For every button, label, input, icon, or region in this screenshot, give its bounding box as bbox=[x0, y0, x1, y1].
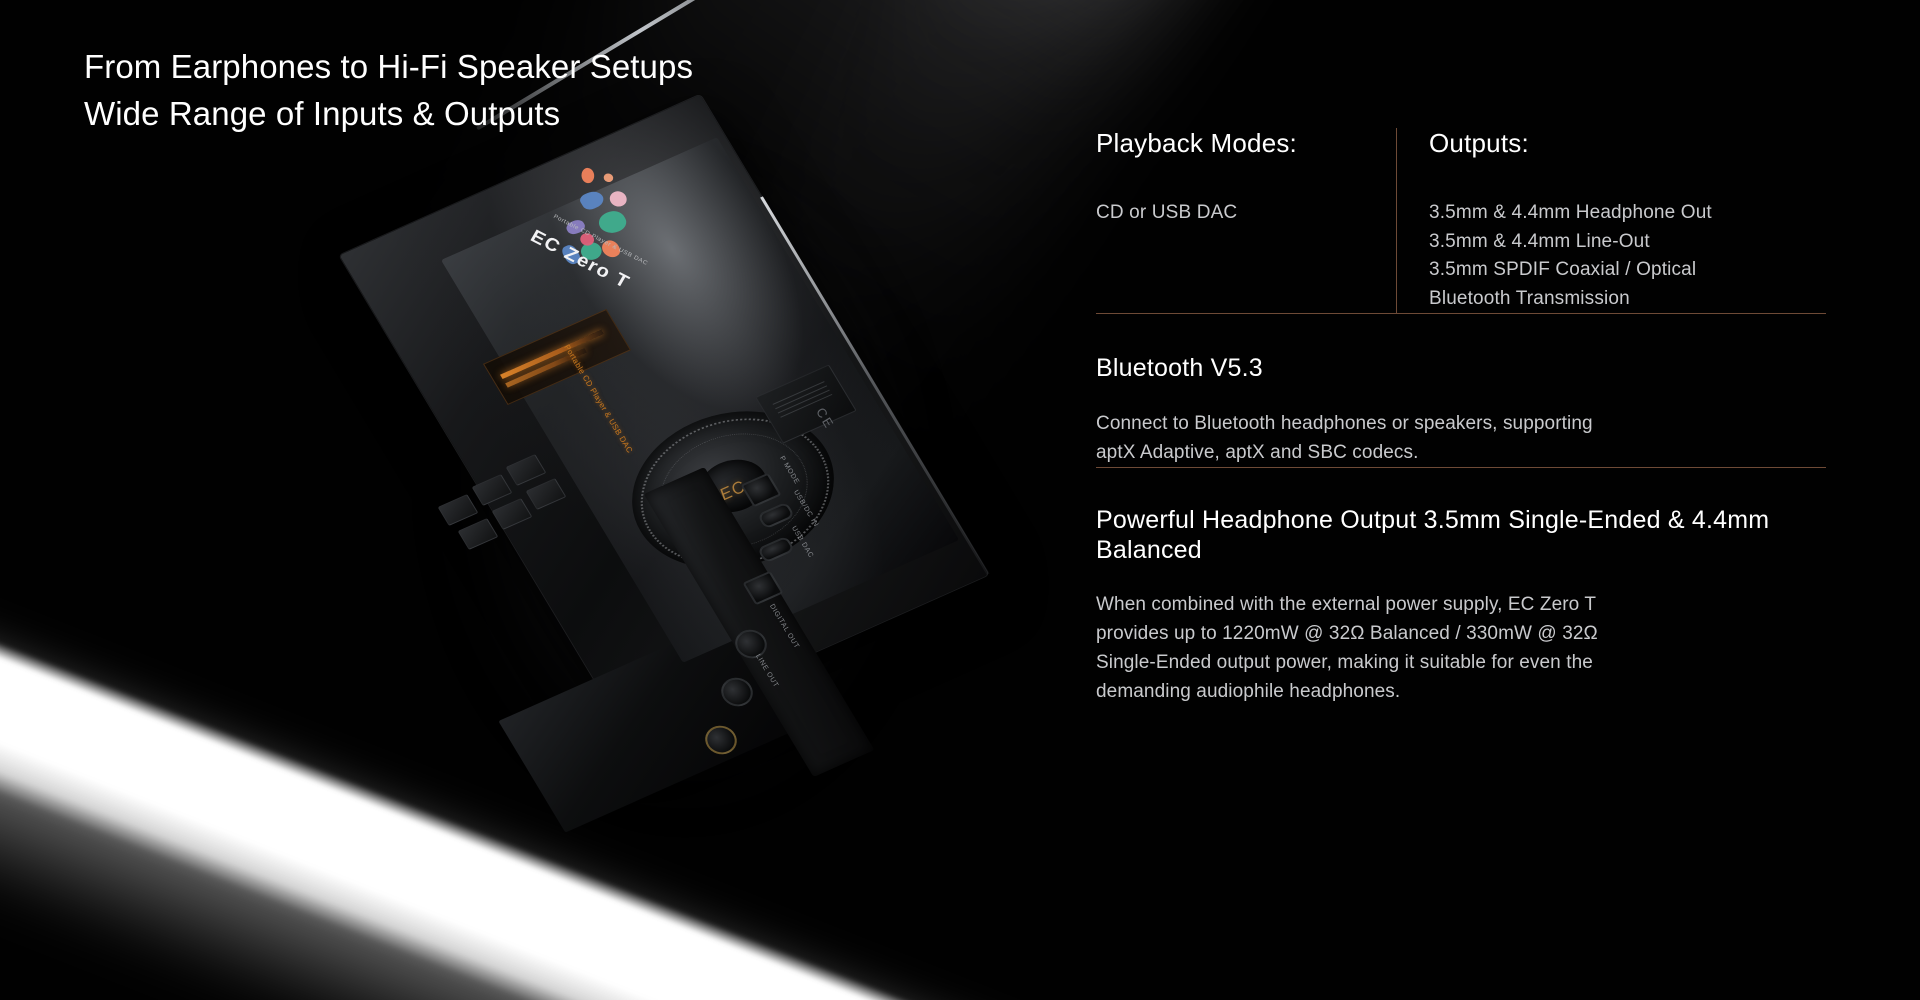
play-button-icon bbox=[438, 494, 479, 526]
logo-dot-icon bbox=[602, 172, 615, 183]
device-logo-badge: EC Zero T Portable CD Player & USB DAC bbox=[511, 143, 684, 289]
eject-button-icon bbox=[526, 478, 567, 510]
port-label-p-mode: P MODE bbox=[778, 455, 800, 486]
playback-modes-title: Playback Modes: bbox=[1096, 128, 1368, 159]
device-logo-name: EC Zero T bbox=[526, 227, 633, 294]
port-line-out bbox=[715, 673, 758, 711]
logo-dot-icon bbox=[607, 189, 630, 209]
headline-line-2: Wide Range of Inputs & Outputs bbox=[84, 91, 904, 138]
section-divider-1 bbox=[1096, 313, 1826, 314]
port-phone-out bbox=[699, 721, 742, 759]
outputs-column: Outputs: 3.5mm & 4.4mm Headphone Out 3.5… bbox=[1397, 128, 1826, 313]
port-usb-dac bbox=[757, 536, 795, 564]
ce-mark-icon: CE bbox=[813, 405, 837, 432]
logo-dot-icon bbox=[578, 231, 597, 247]
device-base bbox=[498, 619, 793, 832]
headphone-output-body-line: demanding audiophile headphones. bbox=[1096, 678, 1710, 707]
cd-transport-outer-ring bbox=[611, 391, 859, 593]
cd-transport-inner-ring bbox=[637, 412, 831, 570]
device-chassis bbox=[339, 95, 988, 736]
light-beam-halo bbox=[0, 548, 1045, 1000]
headphone-output-body-line: provides up to 1220mW @ 32Ω Balanced / 3… bbox=[1096, 620, 1710, 649]
logo-dot-icon bbox=[599, 238, 623, 260]
section-headphone-output: Powerful Headphone Output 3.5mm Single-E… bbox=[1096, 506, 1826, 707]
device-display-label: Portable CD Player & USB DAC bbox=[562, 343, 634, 455]
headphone-output-body-line: Single-Ended output power, making it sui… bbox=[1096, 649, 1710, 678]
device-display-strip bbox=[483, 309, 631, 405]
port-digital-out bbox=[729, 625, 772, 663]
outputs-title: Outputs: bbox=[1429, 128, 1826, 159]
headphone-output-body: When combined with the external power su… bbox=[1096, 591, 1710, 707]
display-bar bbox=[500, 330, 604, 379]
cd-transport-hub bbox=[689, 450, 777, 522]
product-image-ec-zero-t: EC EC Zero T Portable CD Player & USB DA… bbox=[430, 105, 950, 845]
device-connector-rail bbox=[644, 467, 875, 777]
spec-content-column: Playback Modes: CD or USB DAC Outputs: 3… bbox=[1096, 128, 1826, 707]
device-certification-panel bbox=[755, 364, 856, 443]
device-brand-mark: EC bbox=[679, 455, 786, 528]
page-title: From Earphones to Hi-Fi Speaker Setups W… bbox=[84, 44, 904, 138]
light-beam bbox=[0, 535, 1030, 1000]
logo-dot-icon bbox=[581, 168, 594, 184]
output-item: 3.5mm & 4.4mm Line-Out bbox=[1429, 228, 1826, 257]
logo-dot-icon bbox=[577, 239, 605, 263]
bluetooth-title: Bluetooth V5.3 bbox=[1096, 354, 1826, 384]
device-transport-buttons bbox=[436, 423, 606, 563]
device-shadow bbox=[450, 165, 920, 805]
light-beam-group bbox=[0, 380, 1120, 1000]
port-label-usb-dc-in: USB/DC IN bbox=[792, 489, 819, 528]
headphone-output-title: Powerful Headphone Output 3.5mm Single-E… bbox=[1096, 506, 1826, 565]
device-certification-text-lines bbox=[771, 378, 838, 427]
section-divider-2 bbox=[1096, 467, 1826, 468]
stop-button-icon bbox=[506, 454, 547, 486]
port-label-line-out: LINE OUT bbox=[754, 653, 780, 689]
device-logo-tagline: Portable CD Player & USB DAC bbox=[552, 214, 648, 267]
cd-transport-disc bbox=[600, 382, 865, 598]
spec-two-column-block: Playback Modes: CD or USB DAC Outputs: 3… bbox=[1096, 128, 1826, 313]
display-bar bbox=[505, 348, 587, 388]
port-slot bbox=[742, 571, 783, 606]
output-item: Bluetooth Transmission bbox=[1429, 285, 1826, 314]
output-item: 3.5mm & 4.4mm Headphone Out bbox=[1429, 199, 1826, 228]
headline-line-1: From Earphones to Hi-Fi Speaker Setups bbox=[84, 44, 904, 91]
logo-dot-icon bbox=[564, 218, 587, 237]
bluetooth-body-line: aptX Adaptive, aptX and SBC codecs. bbox=[1096, 439, 1710, 468]
port-usb-dc-in bbox=[757, 502, 795, 530]
logo-dot-icon bbox=[560, 243, 583, 266]
port-label-usb-dac: USB DAC bbox=[790, 525, 815, 559]
next-track-button-icon bbox=[472, 474, 513, 506]
port-label-digital-out: DIGITAL OUT bbox=[768, 603, 800, 650]
logo-dot-icon bbox=[595, 207, 630, 237]
playback-modes-list: CD or USB DAC bbox=[1096, 199, 1368, 228]
bluetooth-body-line: Connect to Bluetooth headphones or speak… bbox=[1096, 410, 1710, 439]
poster-canvas: From Earphones to Hi-Fi Speaker Setups W… bbox=[0, 0, 1920, 1000]
headphone-output-body-line: When combined with the external power su… bbox=[1096, 591, 1710, 620]
port-p-mode bbox=[740, 473, 781, 508]
playback-modes-column: Playback Modes: CD or USB DAC bbox=[1096, 128, 1396, 228]
output-item: 3.5mm SPDIF Coaxial / Optical bbox=[1429, 256, 1826, 285]
logo-dot-icon bbox=[578, 188, 607, 212]
device-body: EC EC Zero T Portable CD Player & USB DA… bbox=[430, 105, 950, 845]
headphone-output-title-line-1: Powerful Headphone Output bbox=[1096, 506, 1417, 534]
outputs-list: 3.5mm & 4.4mm Headphone Out 3.5mm & 4.4m… bbox=[1429, 199, 1826, 313]
device-side-edge-highlight bbox=[760, 196, 989, 574]
device-glass-lid bbox=[441, 137, 959, 663]
playback-mode-item: CD or USB DAC bbox=[1096, 199, 1368, 228]
power-button-icon bbox=[458, 518, 499, 550]
bluetooth-body: Connect to Bluetooth headphones or speak… bbox=[1096, 410, 1710, 468]
prev-track-button-icon bbox=[492, 498, 533, 530]
section-bluetooth: Bluetooth V5.3 Connect to Bluetooth head… bbox=[1096, 354, 1826, 467]
